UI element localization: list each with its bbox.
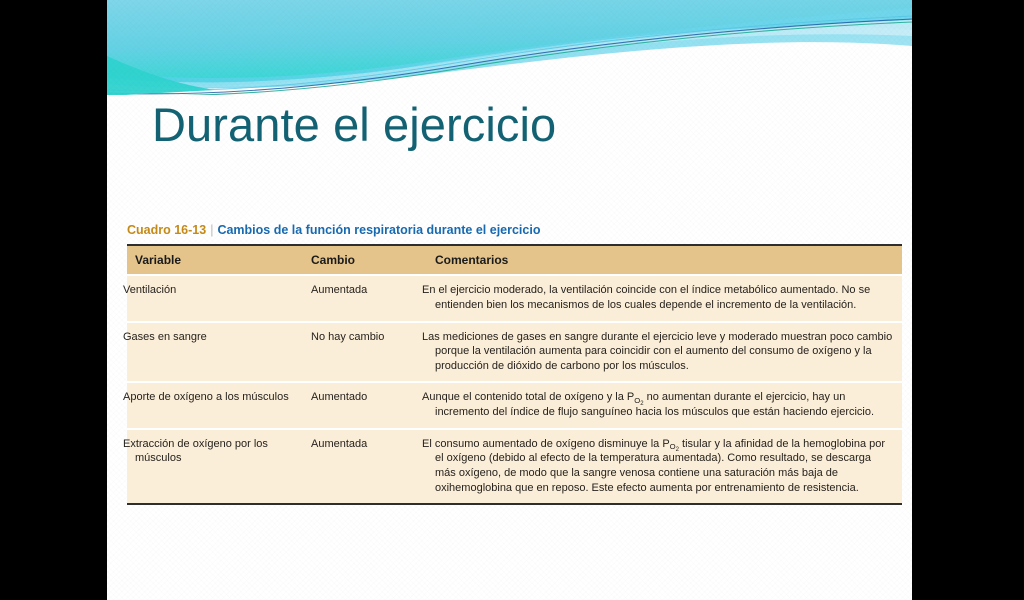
table-caption-number: Cuadro 16-13: [127, 223, 206, 237]
cell-comentario: El consumo aumentado de oxígeno disminuy…: [427, 429, 902, 505]
column-header-cambio: Cambio: [303, 246, 427, 275]
cell-variable: Extracción de oxígeno por los músculos: [127, 429, 303, 505]
cell-cambio: No hay cambio: [303, 322, 427, 383]
slide-root: Durante el ejercicio Cuadro 16-13|Cambio…: [0, 0, 1024, 600]
table-caption-divider: |: [206, 223, 217, 237]
column-header-comentarios: Comentarios: [427, 246, 902, 275]
cell-cambio: Aumentada: [303, 275, 427, 321]
cell-variable: Aporte de oxígeno a los músculos: [127, 382, 303, 428]
slide-canvas: Durante el ejercicio Cuadro 16-13|Cambio…: [107, 0, 912, 600]
table-body: Ventilación Aumentada En el ejercicio mo…: [127, 275, 902, 504]
table-caption-text: Cambios de la función respiratoria duran…: [217, 223, 540, 237]
cell-comentario: En el ejercicio moderado, la ventilación…: [427, 275, 902, 321]
table-header: Variable Cambio Comentarios: [127, 246, 902, 275]
table-block: Cuadro 16-13|Cambios de la función respi…: [127, 224, 902, 505]
respiratory-changes-table: Variable Cambio Comentarios Ventilación …: [127, 246, 902, 505]
table-row: Gases en sangre No hay cambio Las medici…: [127, 322, 902, 383]
table-row: Aporte de oxígeno a los músculos Aumenta…: [127, 382, 902, 428]
page-title: Durante el ejercicio: [152, 98, 556, 152]
cell-cambio: Aumentada: [303, 429, 427, 505]
header-wave-decoration: [107, 0, 912, 95]
table-header-row: Variable Cambio Comentarios: [127, 246, 902, 275]
table-row: Extracción de oxígeno por los músculos A…: [127, 429, 902, 505]
table-row: Ventilación Aumentada En el ejercicio mo…: [127, 275, 902, 321]
cell-variable: Gases en sangre: [127, 322, 303, 383]
table-caption: Cuadro 16-13|Cambios de la función respi…: [127, 224, 902, 244]
column-header-variable: Variable: [127, 246, 303, 275]
cell-variable: Ventilación: [127, 275, 303, 321]
cell-comentario: Las mediciones de gases en sangre durant…: [427, 322, 902, 383]
cell-comentario: Aunque el contenido total de oxígeno y l…: [427, 382, 902, 428]
cell-cambio: Aumentado: [303, 382, 427, 428]
